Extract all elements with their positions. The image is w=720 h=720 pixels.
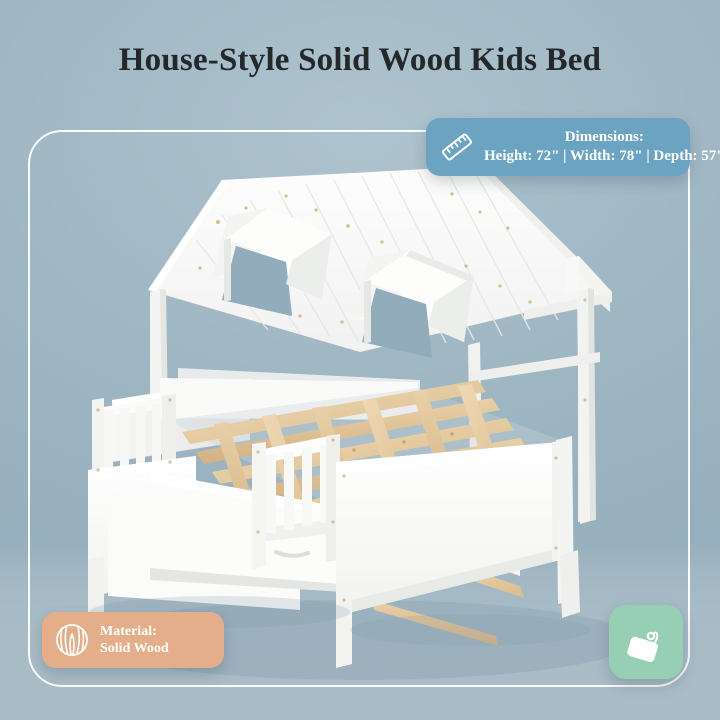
infographic-canvas: House-Style Solid Wood Kids Bed Dimensio… — [0, 0, 720, 720]
wood-grain-icon — [54, 622, 90, 658]
ruler-icon — [440, 130, 474, 164]
page-title: House-Style Solid Wood Kids Bed — [0, 42, 720, 79]
dimensions-badge[interactable]: Dimensions: Height: 72" | Width: 78" | D… — [426, 118, 690, 176]
dimensions-label: Dimensions: — [484, 128, 720, 147]
material-badge[interactable]: Material: Solid Wood — [42, 612, 224, 668]
price-tag-icon — [623, 619, 669, 665]
dimensions-value: Height: 72" | Width: 78" | Depth: 57" — [484, 147, 720, 166]
material-value: Solid Wood — [100, 640, 169, 658]
material-label: Material: — [100, 623, 169, 641]
tag-badge[interactable] — [609, 605, 683, 679]
